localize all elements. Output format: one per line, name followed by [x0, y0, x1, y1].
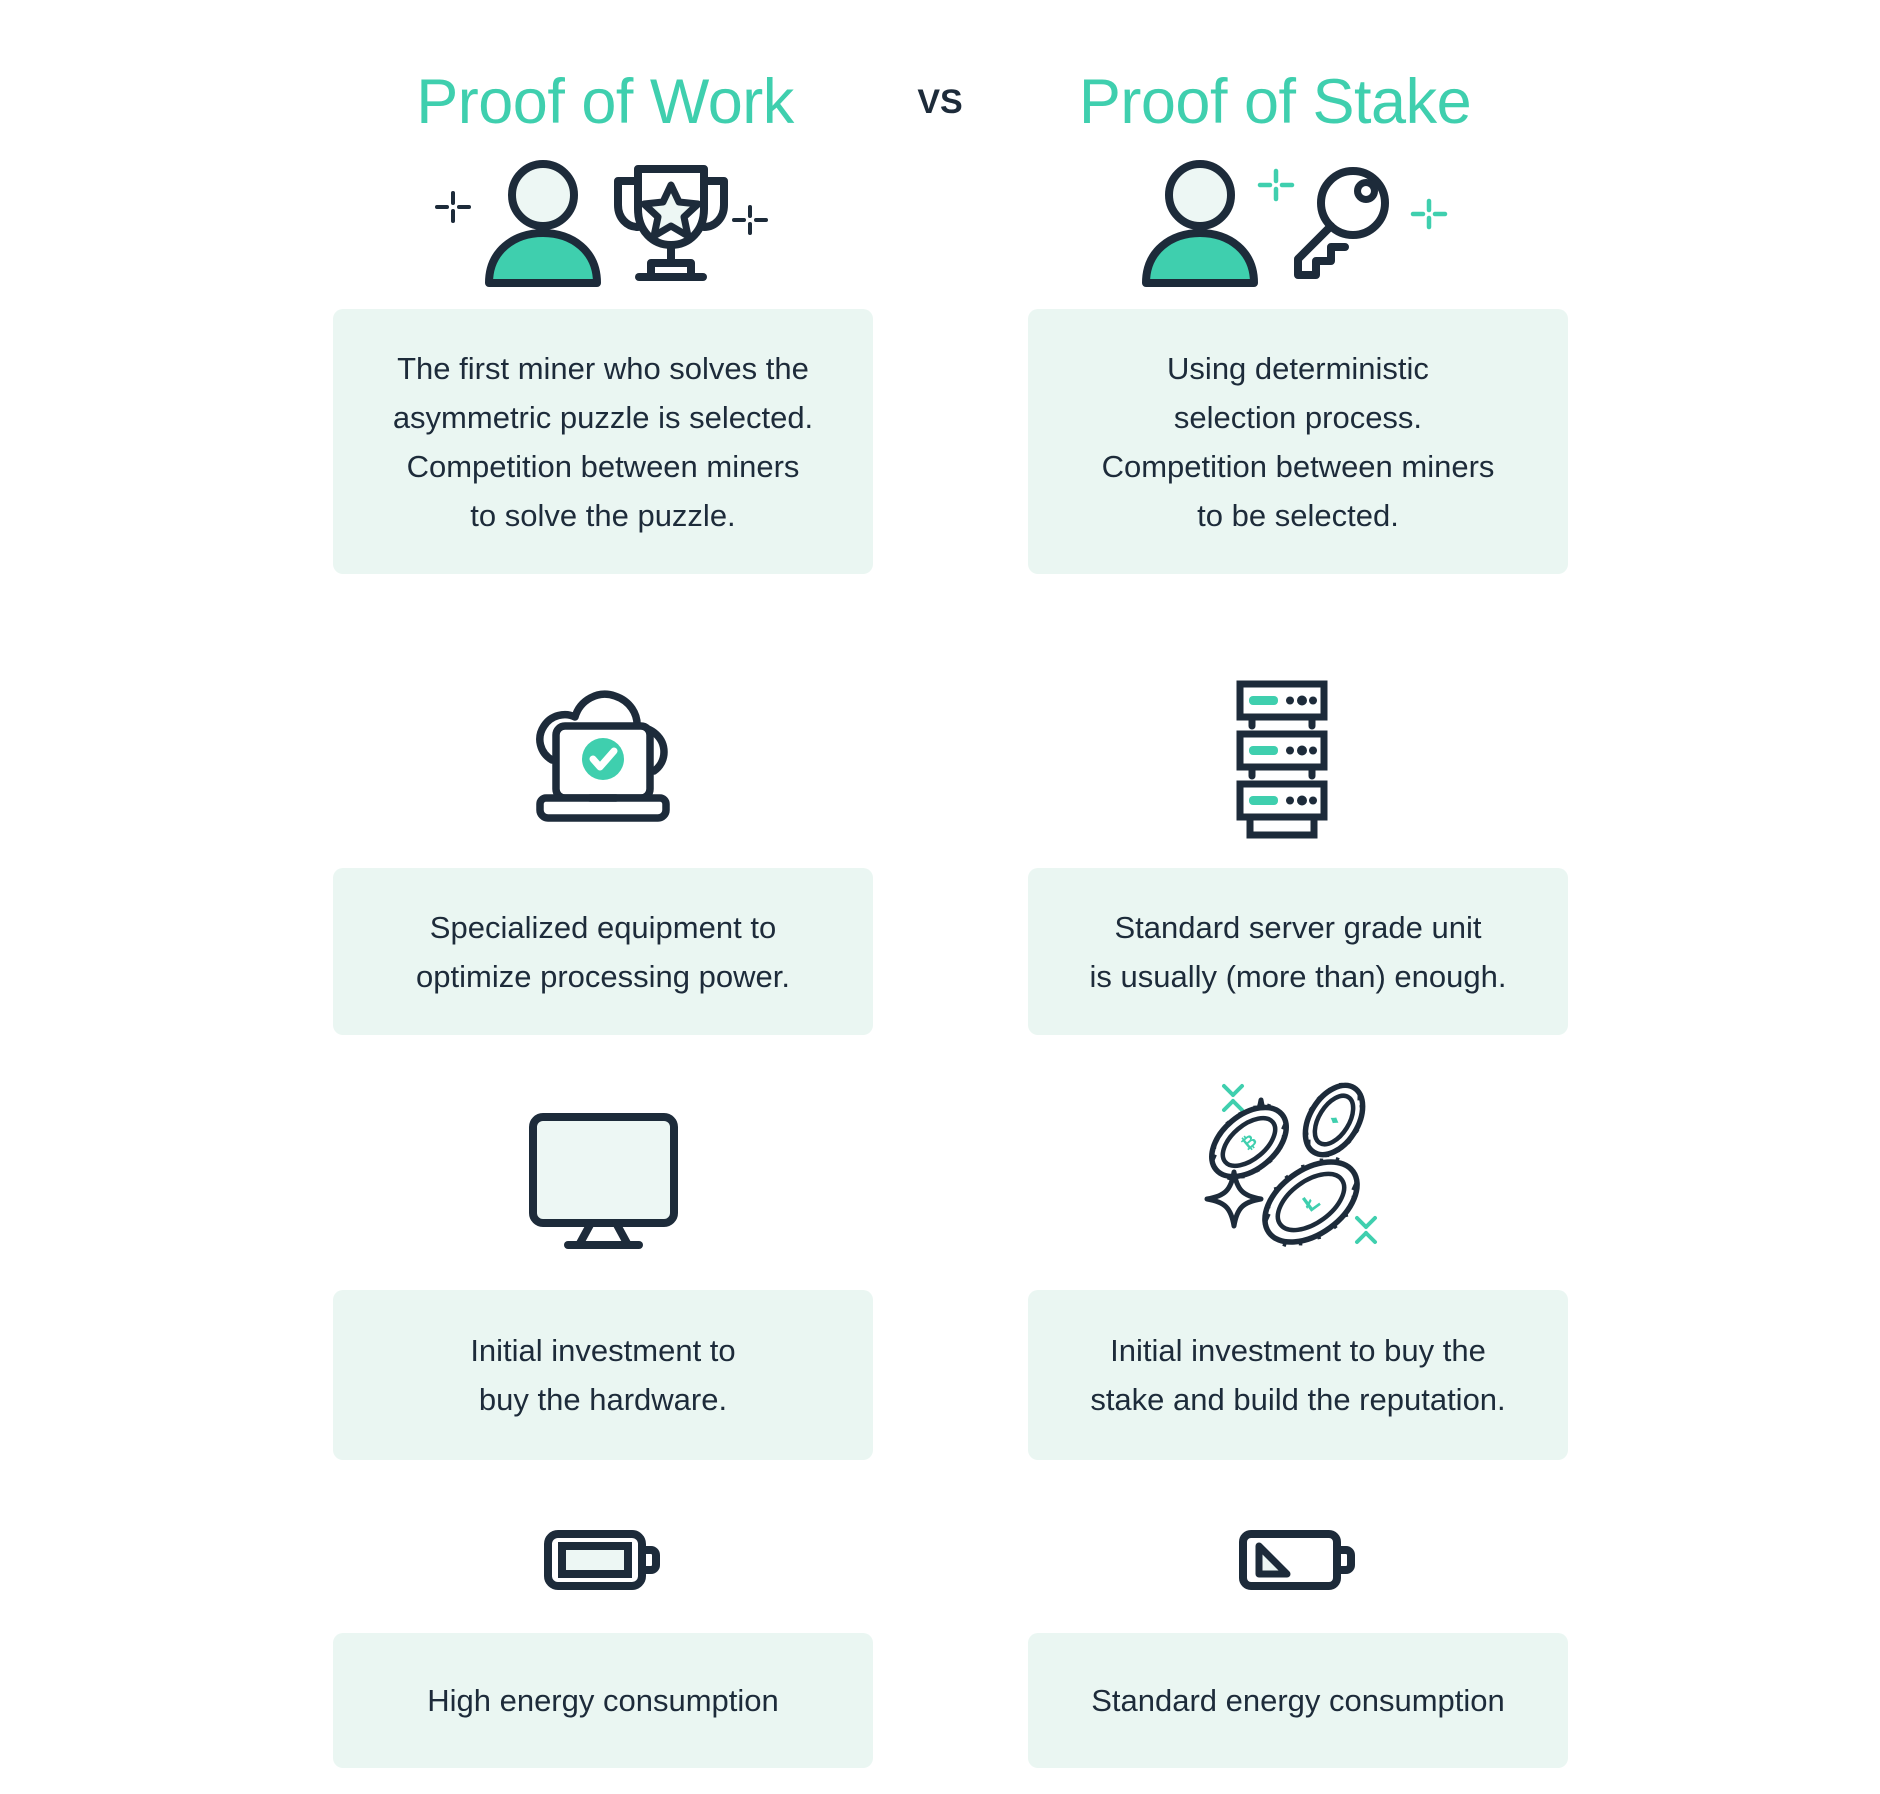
- description-panel: High energy consumption: [333, 1633, 873, 1768]
- description-text: The first miner who solves the asymmetri…: [393, 344, 813, 540]
- row-energy-right: Standard energy consumption: [1028, 1505, 1568, 1768]
- description-text: Using deterministic selection process. C…: [1102, 344, 1495, 540]
- server-rack-icon: [1028, 680, 1568, 830]
- infographic-page: Proof of Work VS Proof of Stake: [0, 0, 1880, 1794]
- row-equipment-right: Standard server grade unit is usually (m…: [1028, 680, 1568, 1035]
- row-investment-left: Initial investment to buy the hardware.: [333, 1090, 873, 1460]
- person-trophy-icon: [333, 155, 873, 285]
- battery-full-icon: [333, 1505, 873, 1600]
- battery-low-icon: [1028, 1505, 1568, 1600]
- description-panel: The first miner who solves the asymmetri…: [333, 309, 873, 574]
- row-energy-left: High energy consumption: [333, 1505, 873, 1768]
- row-equipment-left: Specialized equipment to optimize proces…: [333, 680, 873, 1035]
- description-text: Standard server grade unit is usually (m…: [1089, 903, 1506, 1001]
- description-panel: Standard energy consumption: [1028, 1633, 1568, 1768]
- description-panel: Initial investment to buy the stake and …: [1028, 1290, 1568, 1460]
- description-panel: Using deterministic selection process. C…: [1028, 309, 1568, 574]
- crypto-coins-icon: ₿: [1028, 1090, 1568, 1255]
- description-panel: Standard server grade unit is usually (m…: [1028, 868, 1568, 1035]
- cloud-laptop-check-icon: [333, 680, 873, 830]
- description-text: Initial investment to buy the stake and …: [1090, 1326, 1505, 1424]
- row-selection-right: Using deterministic selection process. C…: [1028, 155, 1568, 574]
- comparison-grid: The first miner who solves the asymmetri…: [0, 0, 1880, 1794]
- person-key-icon: [1028, 155, 1568, 285]
- description-text: Standard energy consumption: [1091, 1676, 1505, 1725]
- row-investment-right: ₿: [1028, 1090, 1568, 1460]
- description-text: Initial investment to buy the hardware.: [470, 1326, 735, 1424]
- desktop-monitor-icon: [333, 1090, 873, 1255]
- row-selection-left: The first miner who solves the asymmetri…: [333, 155, 873, 574]
- description-text: Specialized equipment to optimize proces…: [416, 903, 790, 1001]
- description-text: High energy consumption: [427, 1676, 779, 1725]
- description-panel: Initial investment to buy the hardware.: [333, 1290, 873, 1460]
- description-panel: Specialized equipment to optimize proces…: [333, 868, 873, 1035]
